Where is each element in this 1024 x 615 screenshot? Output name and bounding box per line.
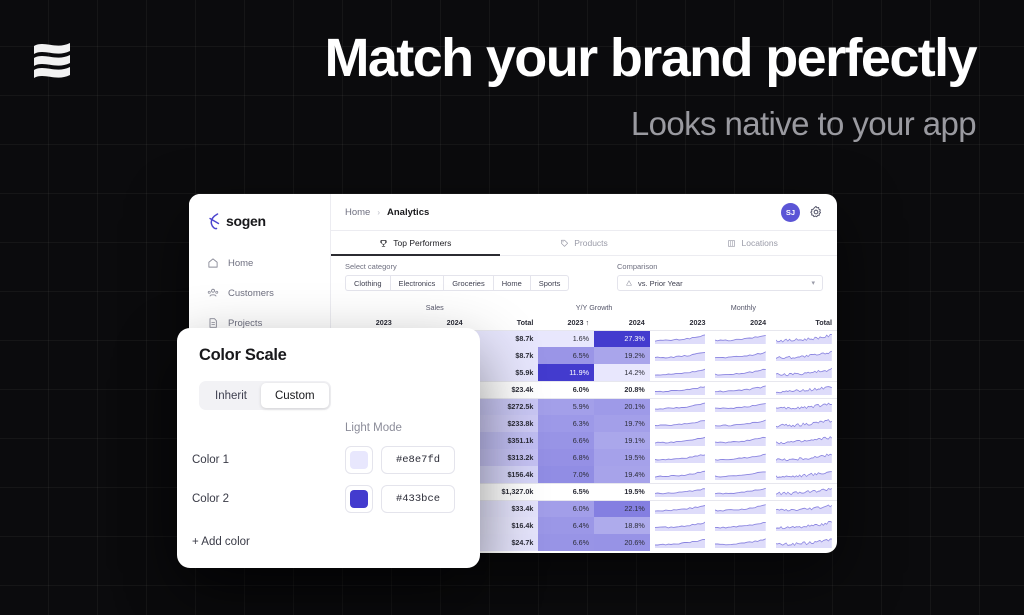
cell-growth-2024: 20.1% [594, 398, 650, 415]
comparison-filter: Comparison vs. Prior Year ▾ [617, 262, 823, 291]
category-pill-clothing[interactable]: Clothing [345, 275, 390, 291]
page-headline: Match your brand perfectly [324, 30, 976, 87]
trophy-icon [379, 239, 388, 248]
stacked-waves-logo [30, 38, 74, 84]
app-topbar: Home › Analytics SJ [331, 194, 837, 231]
tab-locations[interactable]: Locations [668, 231, 837, 255]
color-row-2: Color 2 #433bce [192, 485, 1002, 513]
cell-growth-2024: 19.7% [594, 415, 650, 432]
cell-spark-2023 [650, 347, 711, 364]
mode-inherit-button[interactable]: Inherit [201, 383, 261, 408]
cell-growth-2024: 18.8% [594, 517, 650, 534]
add-color-button[interactable]: + Add color [192, 536, 250, 548]
tag-icon [560, 239, 569, 248]
cell-growth-2023: 6.3% [538, 415, 594, 432]
cell-spark-2024 [710, 364, 771, 381]
cell-spark-2024 [710, 415, 771, 432]
breadcrumb-analytics[interactable]: Analytics [387, 207, 429, 218]
cell-spark-total [771, 398, 837, 415]
breadcrumb: Home › Analytics [345, 207, 429, 218]
table-column-header[interactable]: 2023 [650, 315, 711, 330]
cell-spark-2024 [710, 381, 771, 398]
hero-section: Match your brand perfectly Looks native … [0, 0, 1024, 180]
dialog-title: Color Scale [199, 346, 458, 365]
cell-spark-total [771, 330, 837, 347]
cell-spark-total [771, 534, 837, 551]
cell-growth-2023: 6.0% [538, 381, 594, 398]
chevron-down-icon: ▾ [811, 279, 815, 287]
cell-growth-2024: 14.2% [594, 364, 650, 381]
cell-growth-2024: 27.3% [594, 330, 650, 347]
category-filter: Select category Clothing Electronics Gro… [345, 262, 569, 291]
color-2-hex-input[interactable]: #433bce [381, 485, 455, 513]
cell-growth-2023: 1.6% [538, 330, 594, 347]
table-group-header: Y/Y Growth [538, 300, 649, 315]
color-2-swatch[interactable] [345, 485, 373, 513]
category-pill-group: Clothing Electronics Groceries Home Spor… [345, 275, 569, 291]
cell-growth-2023: 5.9% [538, 398, 594, 415]
cell-growth-2023: 6.4% [538, 517, 594, 534]
home-icon [207, 257, 219, 269]
sogen-mark-icon [207, 213, 222, 230]
breadcrumb-separator: › [377, 208, 380, 217]
category-pill-home[interactable]: Home [493, 275, 530, 291]
sidebar-item-home[interactable]: Home [189, 250, 330, 276]
table-group-header: Sales [331, 300, 538, 315]
table-column-header[interactable]: 2024 [594, 315, 650, 330]
cell-spark-2024 [710, 534, 771, 551]
sidebar-brand-text: sogen [226, 213, 266, 229]
cell-spark-2023 [650, 364, 711, 381]
table-group-header: Monthly [650, 300, 837, 315]
table-group-header-row: SalesY/Y GrowthMonthly [331, 300, 837, 315]
sidebar-item-label: Home [228, 258, 253, 269]
table-column-header[interactable]: 2023 ↑ [538, 315, 594, 330]
cell-spark-total [771, 347, 837, 364]
cell-spark-2024 [710, 517, 771, 534]
table-column-header[interactable]: Total [771, 315, 837, 330]
triangle-icon [625, 279, 633, 287]
cell-growth-2023: 11.9% [538, 364, 594, 381]
tab-products[interactable]: Products [500, 231, 669, 255]
cell-growth-2024: 20.6% [594, 534, 650, 551]
cell-spark-2024 [710, 330, 771, 347]
color-1-swatch[interactable] [345, 446, 373, 474]
cell-growth-2023: 6.5% [538, 347, 594, 364]
cell-spark-total [771, 381, 837, 398]
color-1-label: Color 1 [192, 454, 345, 466]
tab-label: Top Performers [393, 238, 451, 248]
cell-spark-total [771, 517, 837, 534]
comparison-value: vs. Prior Year [638, 279, 683, 288]
comparison-select[interactable]: vs. Prior Year ▾ [617, 275, 823, 291]
filter-bar: Select category Clothing Electronics Gro… [331, 256, 837, 300]
sidebar-item-label: Customers [228, 288, 274, 299]
cell-growth-2024: 19.2% [594, 347, 650, 364]
topbar-actions: SJ [781, 203, 823, 222]
cell-spark-2023 [650, 398, 711, 415]
sidebar-item-customers[interactable]: Customers [189, 280, 330, 306]
cell-spark-total [771, 364, 837, 381]
cell-spark-2023 [650, 517, 711, 534]
cell-spark-2024 [710, 398, 771, 415]
color-row-1: Color 1 #e8e7fd [192, 446, 1002, 474]
analytics-tabs: Top Performers Products Locations [331, 231, 837, 256]
avatar[interactable]: SJ [781, 203, 800, 222]
cell-spark-total [771, 415, 837, 432]
gear-icon[interactable] [809, 205, 823, 219]
category-pill-sports[interactable]: Sports [530, 275, 570, 291]
tab-label: Locations [741, 238, 777, 248]
breadcrumb-home[interactable]: Home [345, 207, 370, 218]
category-pill-groceries[interactable]: Groceries [443, 275, 493, 291]
cell-spark-2023 [650, 415, 711, 432]
building-icon [727, 239, 736, 248]
table-column-header[interactable]: 2024 [710, 315, 771, 330]
color-1-hex-input[interactable]: #e8e7fd [381, 446, 455, 474]
color-2-label: Color 2 [192, 493, 345, 505]
cell-growth-2024: 20.8% [594, 381, 650, 398]
category-pill-electronics[interactable]: Electronics [390, 275, 444, 291]
tab-top-performers[interactable]: Top Performers [331, 231, 500, 255]
cell-spark-2023 [650, 330, 711, 347]
cell-growth-2023: 6.6% [538, 534, 594, 551]
cell-spark-2023 [650, 381, 711, 398]
table-column-header[interactable]: Total [468, 315, 539, 330]
sidebar-brand[interactable]: sogen [189, 206, 330, 236]
category-filter-label: Select category [345, 262, 569, 271]
sidebar-item-label: Projects [228, 318, 262, 329]
cell-spark-2024 [710, 347, 771, 364]
mode-custom-button[interactable]: Custom [261, 383, 329, 408]
mode-toggle-group: Inherit Custom [199, 381, 331, 410]
cell-spark-2023 [650, 534, 711, 551]
page-subheadline: Looks native to your app [631, 105, 976, 143]
tab-label: Products [574, 238, 608, 248]
light-mode-label: Light Mode [345, 422, 402, 434]
comparison-filter-label: Comparison [617, 262, 823, 271]
users-icon [207, 287, 219, 299]
